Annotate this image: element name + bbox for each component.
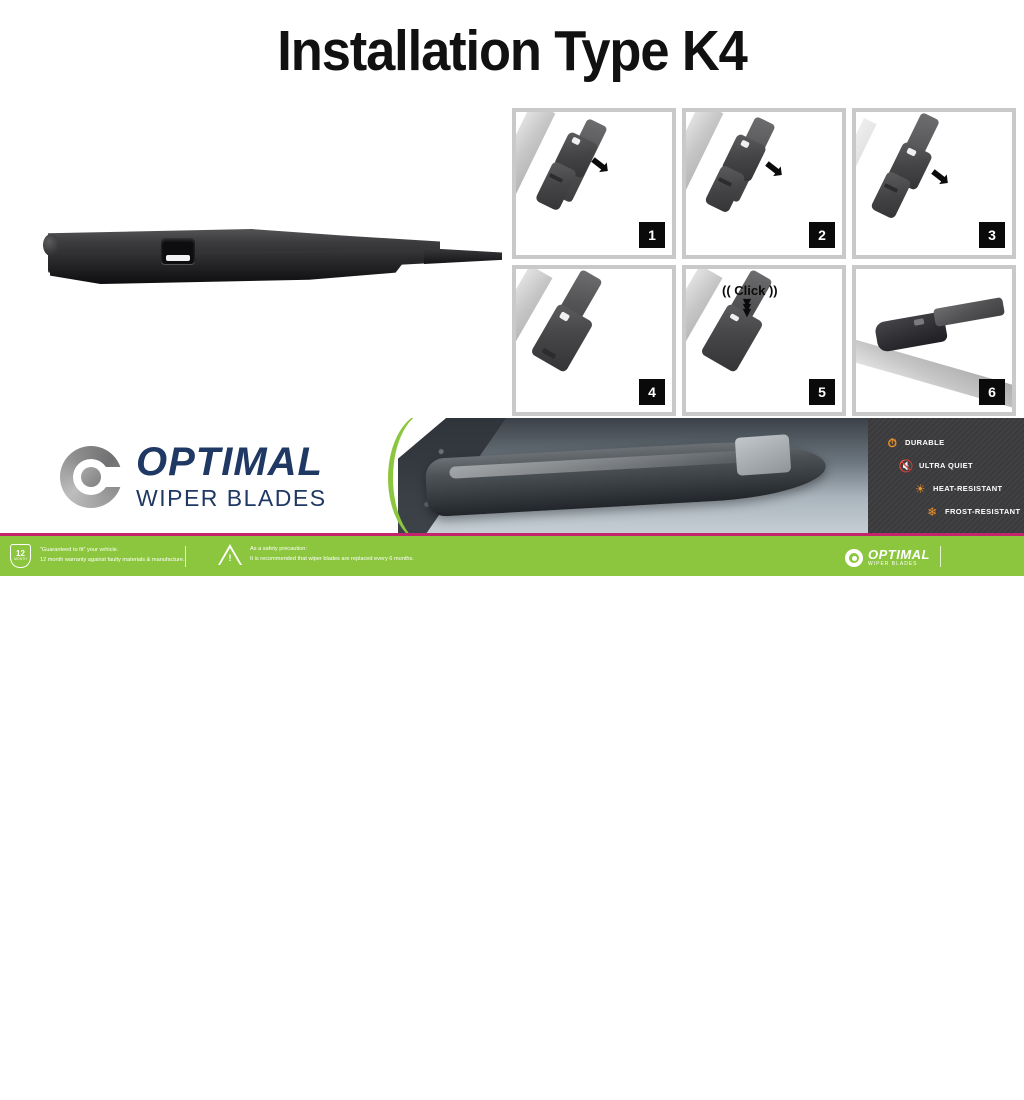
recycle-icon: ♻ xyxy=(962,1084,975,1099)
wiper-arm-pivot-end xyxy=(43,234,59,256)
safety-line-1: As a safety precaution: xyxy=(250,545,414,555)
logo-center-dot xyxy=(852,556,857,561)
footer-divider-1 xyxy=(185,546,186,567)
installation-steps-grid: ➡ 1 ➡ 2 ➡ 3 xyxy=(512,108,1016,416)
optimal-circle-icon-footer xyxy=(845,549,863,567)
wiper-arm-tail xyxy=(424,248,502,264)
arm-upper xyxy=(933,297,1005,327)
brand-logo-text: OPTIMAL WIPER BLADES xyxy=(136,442,327,513)
step-number-badge: 6 xyxy=(979,379,1005,405)
brand-name: OPTIMAL xyxy=(136,442,327,482)
feature-frost-resistant: ❄ FROST-RESISTANT xyxy=(926,505,1020,518)
green-arc-left xyxy=(388,418,468,538)
direction-arrow-icon: ➡ xyxy=(925,160,957,193)
feature-label: HEAT-RESISTANT xyxy=(933,484,1003,493)
brand-tagline: WIPER BLADES xyxy=(136,484,327,513)
feature-label: DURABLE xyxy=(905,438,944,447)
eco-icon-group: ♻ ♻ ⚘ xyxy=(962,1084,1016,1099)
sun-icon: ☀ xyxy=(914,482,927,495)
feature-label: FROST-RESISTANT xyxy=(945,507,1020,516)
step-panel-1[interactable]: ➡ 1 xyxy=(512,108,676,259)
safety-text: As a safety precaution: It is recommende… xyxy=(250,545,414,565)
wiper-arm-underside xyxy=(50,254,410,284)
step-panel-5[interactable]: (( Click )) ▼▼▼ 5 xyxy=(682,265,846,416)
footer-divider-2 xyxy=(940,546,941,567)
waste-bin-icon: ♻ xyxy=(982,1084,995,1099)
step-number-badge: 3 xyxy=(979,222,1005,248)
page-title: Installation Type K4 xyxy=(41,22,983,82)
bottom-banner: OPTIMAL WIPER BLADES ⏱ DURABLE 🔇 ULTRA Q… xyxy=(0,418,1024,538)
direction-arrow-icon: ➡ xyxy=(759,152,791,185)
footer-brand-name: OPTIMAL xyxy=(868,548,930,561)
snowflake-icon: ❄ xyxy=(926,505,939,518)
safety-block: ! As a safety precaution: It is recommen… xyxy=(218,544,414,565)
logo-ring-gap xyxy=(101,467,123,487)
feature-list: ⏱ DURABLE 🔇 ULTRA QUIET ☀ HEAT-RESISTANT… xyxy=(868,418,1024,538)
warranty-block: 12 MONTH “Guaranteed to fit” your vehicl… xyxy=(10,544,185,568)
tree-icon: ⚘ xyxy=(1003,1084,1016,1099)
warning-exclamation: ! xyxy=(229,554,232,563)
adapter-body xyxy=(870,170,912,219)
banner-product-photo xyxy=(398,418,880,538)
footer-bar: 12 MONTH “Guaranteed to fit” your vehicl… xyxy=(0,536,1024,576)
step-number-badge: 4 xyxy=(639,379,665,405)
wiper-arm-top-face xyxy=(48,228,440,254)
warranty-line-1: “Guaranteed to fit” your vehicle. xyxy=(40,546,185,556)
step-panel-2[interactable]: ➡ 2 xyxy=(682,108,846,259)
click-chevron-down-icon: ▼▼▼ xyxy=(738,300,756,315)
step-number-badge: 5 xyxy=(809,379,835,405)
footer-brand-logo: OPTIMAL WIPER BLADES xyxy=(845,548,930,569)
feature-ultra-quiet: 🔇 ULTRA QUIET xyxy=(900,459,973,472)
footer-brand-text: OPTIMAL WIPER BLADES xyxy=(868,548,930,569)
page-title-bar: Installation Type K4 xyxy=(0,22,1024,82)
feature-label: ULTRA QUIET xyxy=(919,461,973,470)
clock-icon: ⏱ xyxy=(886,436,899,449)
safety-line-2: It is recommended that wiper blades are … xyxy=(250,555,414,565)
warranty-badge-sub: MONTH xyxy=(14,558,27,561)
warranty-line-2: 12 month warranty against faulty materia… xyxy=(40,556,185,566)
warning-triangle-icon: ! xyxy=(218,544,242,565)
warranty-shield-icon: 12 MONTH xyxy=(10,544,31,568)
logo-center-dot xyxy=(81,467,101,487)
optimal-circle-icon xyxy=(60,446,122,508)
step-panel-3[interactable]: ➡ 3 xyxy=(852,108,1016,259)
footer-brand-tagline: WIPER BLADES xyxy=(868,561,930,569)
warranty-text: “Guaranteed to fit” your vehicle. 12 mon… xyxy=(40,546,185,566)
step-number-badge: 1 xyxy=(639,222,665,248)
step-panel-4[interactable]: 4 xyxy=(512,265,676,416)
step-panel-6[interactable]: 6 xyxy=(852,265,1016,416)
brand-logo: OPTIMAL WIPER BLADES xyxy=(60,442,327,513)
feature-heat-resistant: ☀ HEAT-RESISTANT xyxy=(914,482,1003,495)
feature-durable: ⏱ DURABLE xyxy=(886,436,944,449)
hero-product-photo xyxy=(26,196,496,346)
mute-speaker-icon: 🔇 xyxy=(900,459,913,472)
wiper-arm-hole-lip xyxy=(166,255,190,261)
step-number-badge: 2 xyxy=(809,222,835,248)
blade-shaft xyxy=(852,118,877,259)
banner-wiper-connector xyxy=(735,434,792,476)
